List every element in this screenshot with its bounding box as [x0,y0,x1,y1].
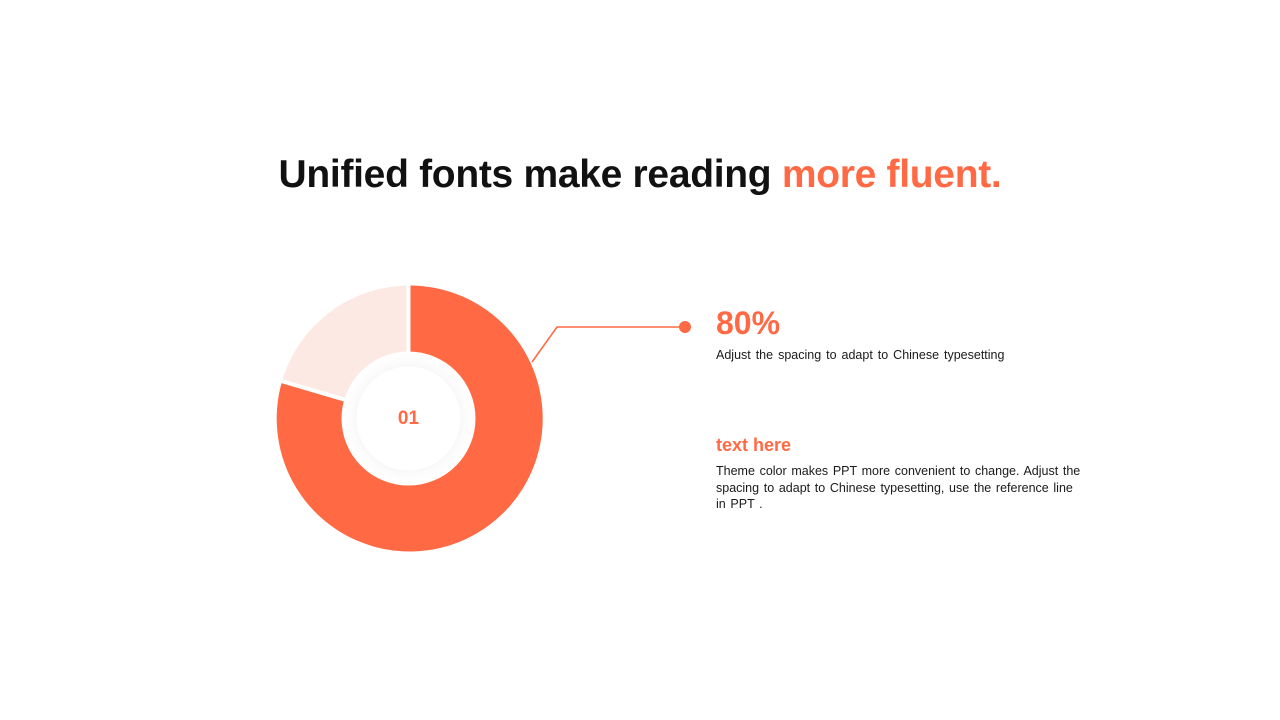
leader-line-path [532,327,685,362]
callout-secondary: text here Theme color makes PPT more con… [716,433,1084,513]
callout-primary: 80% Adjust the spacing to adapt to Chine… [716,304,1116,364]
leader-endpoint-dot [679,321,691,333]
callout-primary-description: Adjust the spacing to adapt to Chinese t… [716,347,1116,364]
donut-inner-hole-core [357,367,461,471]
callout-secondary-body: Theme color makes PPT more convenient to… [716,463,1084,513]
callout-secondary-heading: text here [716,433,1084,457]
page-title-plain: Unified fonts make reading [279,153,782,196]
page-title-accent: more fluent. [782,153,1002,196]
leader-line [500,300,710,380]
page-title: Unified fonts make reading more fluent. [0,148,1280,202]
callout-primary-value: 80% [716,304,1116,342]
